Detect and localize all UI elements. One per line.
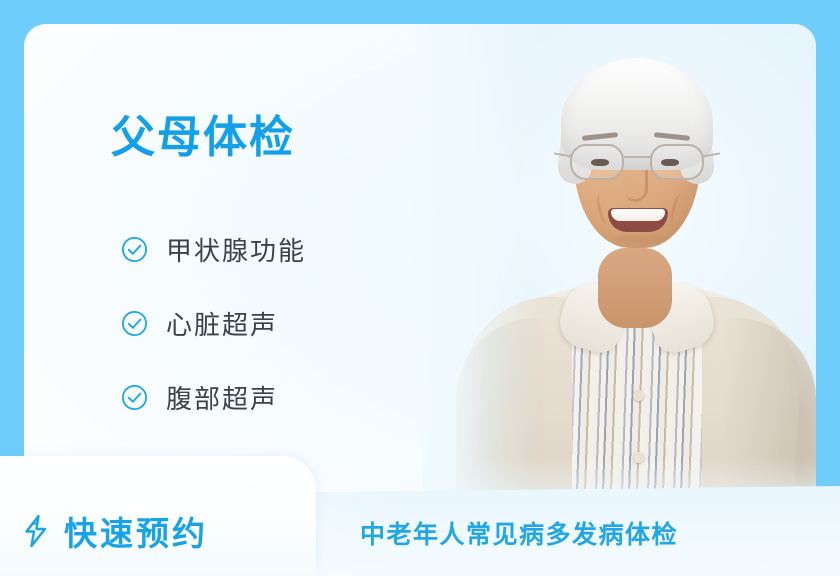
list-item: 甲状腺功能 [121, 212, 421, 286]
quick-book-label: 快速预约 [64, 507, 208, 555]
quick-book-panel[interactable]: 快速预约 [0, 456, 316, 576]
lightning-bolt-icon [22, 514, 50, 548]
chin-shading [606, 232, 670, 246]
check-circle-icon [121, 236, 148, 263]
check-circle-icon [121, 310, 148, 337]
check-circle-icon [121, 384, 148, 411]
shirt-button [633, 390, 644, 401]
lens-left [570, 144, 624, 180]
feature-label: 心脏超声 [166, 305, 278, 342]
feature-list: 甲状腺功能 心脏超声 腹部超声 [121, 212, 421, 434]
list-item: 心脏超声 [121, 286, 421, 360]
lens-right [650, 144, 704, 180]
glasses-bridge [624, 156, 652, 158]
quick-book-button[interactable]: 快速预约 [22, 508, 208, 554]
bar-subtitle: 中老年人常见病多发病体检 [360, 515, 678, 551]
nose [626, 170, 648, 202]
neck [598, 248, 672, 328]
smiling-mouth [608, 208, 668, 232]
page-title: 父母体检 [111, 116, 295, 160]
health-checkup-banner: 父母体检 甲状腺功能 心脏超声 [0, 0, 840, 576]
portrait-left-fade [422, 24, 542, 518]
teeth [611, 209, 665, 221]
elderly-man-portrait [422, 24, 816, 518]
list-item: 腹部超声 [121, 360, 421, 434]
feature-label: 甲状腺功能 [166, 231, 306, 268]
feature-label: 腹部超声 [166, 379, 278, 416]
